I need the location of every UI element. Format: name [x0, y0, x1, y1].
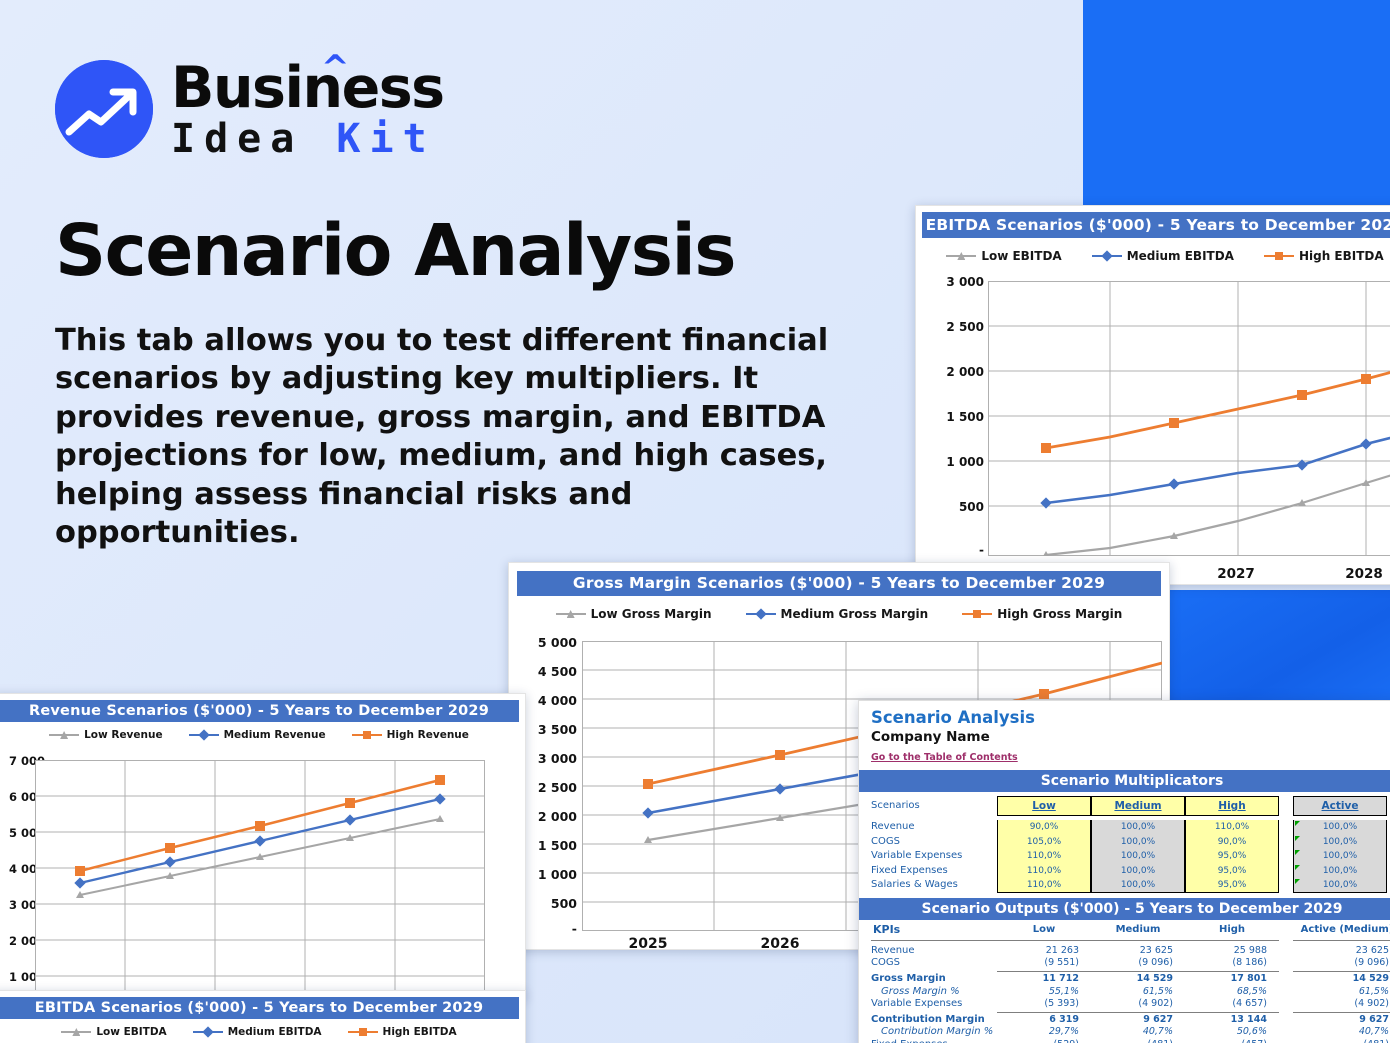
brand-line-2-accent: Kit — [336, 116, 435, 162]
multiplicators-column-low: Low 90,0% 105,0% 110,0% 110,0% 110,0% — [997, 796, 1091, 893]
brand-logo: Business ^ Idea Kit — [55, 58, 444, 159]
legend-item-low: Low Revenue — [49, 729, 163, 741]
ytick-ebitda-top-5: 2 500 — [926, 320, 984, 334]
multiplicators-row-label-cogs: COGS — [871, 835, 997, 850]
chart-title-revenue: Revenue Scenarios ($'000) - 5 Years to D… — [0, 700, 519, 722]
outputs-low-gross-margin-pct: 55,1% — [997, 986, 1091, 997]
table-row: Gross Margin 11 712 14 529 17 801 14 529 — [859, 972, 1390, 985]
outputs-active-contribution-margin-pct: 40,7% — [1293, 1026, 1390, 1037]
legend-marker-medium-icon — [193, 1031, 223, 1033]
outputs-high-gross-margin-pct: 68,5% — [1185, 986, 1279, 997]
scenario-outputs-header: Scenario Outputs ($'000) - 5 Years to De… — [859, 898, 1390, 920]
multiplicators-row-labels: Scenarios Revenue COGS Variable Expenses… — [859, 796, 997, 893]
page-description: This tab allows you to test different fi… — [55, 322, 855, 553]
outputs-high-revenue: 25 988 — [1185, 945, 1279, 956]
outputs-label-fixed-expenses: Fixed Expenses — [859, 1039, 997, 1043]
multiplicator-medium-revenue[interactable]: 100,0% — [1091, 820, 1185, 835]
ytick-ebitda-top-1: 500 — [926, 500, 984, 514]
outputs-header-rule — [859, 938, 1390, 941]
slide-canvas: Business ^ Idea Kit Scenario Analysis Th… — [0, 0, 1390, 1043]
ytick-ebitda-top-4: 2 000 — [926, 365, 984, 379]
table-row: Contribution Margin % 29,7% 40,7% 50,6% … — [859, 1026, 1390, 1039]
outputs-active-gross-margin: 14 529 — [1293, 973, 1390, 984]
ytick-ebitda-top-3: 1 500 — [926, 410, 984, 424]
chart-title-gross-margin: Gross Margin Scenarios ($'000) - 5 Years… — [517, 571, 1161, 596]
scenario-panel-company: Company Name — [871, 729, 1390, 745]
outputs-high-contribution-margin: 13 144 — [1185, 1014, 1279, 1025]
scenario-panel-title: Scenario Analysis — [871, 709, 1390, 728]
outputs-medium-contribution-margin: 9 627 — [1091, 1014, 1185, 1025]
legend-label-low: Low Gross Margin — [591, 607, 712, 621]
legend-item-medium: Medium EBITDA — [193, 1026, 322, 1038]
outputs-low-cogs: (9 551) — [997, 957, 1091, 968]
outputs-label-gross-margin-pct: Gross Margin % — [859, 986, 997, 997]
multiplicator-low-fixexp[interactable]: 110,0% — [997, 864, 1091, 879]
outputs-medium-gross-margin-pct: 61,5% — [1091, 986, 1185, 997]
legend-label-low: Low EBITDA — [981, 249, 1061, 263]
outputs-medium-cogs: (9 096) — [1091, 957, 1185, 968]
legend-marker-high-icon — [352, 734, 382, 736]
outputs-medium-fixed-expenses: (481) — [1091, 1039, 1185, 1043]
multiplicator-active-salaries: 100,0% — [1293, 878, 1387, 893]
outputs-low-gross-margin: 11 712 — [997, 973, 1091, 984]
legend-marker-high-icon — [962, 613, 992, 615]
multiplicator-active-cogs: 100,0% — [1293, 835, 1387, 850]
outputs-low-contribution-margin-pct: 29,7% — [997, 1026, 1091, 1037]
chart-legend-gross-margin: Low Gross Margin Medium Gross Margin Hig… — [509, 607, 1169, 621]
table-row: COGS (9 551) (9 096) (8 186) (9 096) — [859, 957, 1390, 970]
brand-circumflex-accent: ^ — [321, 51, 348, 85]
multiplicator-high-fixexp[interactable]: 95,0% — [1185, 864, 1279, 879]
outputs-active-cogs: (9 096) — [1293, 957, 1390, 968]
multiplicators-column-high: High 110,0% 90,0% 95,0% 95,0% 95,0% — [1185, 796, 1279, 893]
xtick-gm-2025: 2025 — [618, 936, 678, 952]
legend-label-high: High Revenue — [387, 729, 469, 741]
decorative-blue-block-middle-right — [1170, 590, 1390, 702]
outputs-medium-variable-expenses: (4 902) — [1091, 998, 1185, 1009]
scenario-outputs-table: KPIs Low Medium High Active (Medium) Rev… — [859, 920, 1390, 1043]
outputs-label-gross-margin: Gross Margin — [859, 973, 997, 984]
scenario-analysis-panel: Scenario Analysis Company Name Go to the… — [858, 700, 1390, 1043]
legend-item-low: Low EBITDA — [946, 249, 1061, 263]
multiplicators-row-label-varexp: Variable Expenses — [871, 849, 997, 864]
page-title: Scenario Analysis — [55, 209, 735, 292]
multiplicator-low-salaries[interactable]: 110,0% — [997, 878, 1091, 893]
outputs-high-fixed-expenses: (457) — [1185, 1039, 1279, 1043]
ytick-gm-9: 4 500 — [515, 664, 577, 679]
brand-line-1: Business — [171, 55, 444, 121]
legend-marker-high-icon — [348, 1031, 378, 1033]
multiplicators-column-medium: Medium 100,0% 100,0% 100,0% 100,0% 100,0… — [1091, 796, 1185, 893]
legend-label-medium: Medium EBITDA — [228, 1026, 322, 1038]
multiplicator-active-revenue: 100,0% — [1293, 820, 1387, 835]
outputs-active-contribution-margin: 9 627 — [1293, 1014, 1390, 1025]
legend-item-low: Low Gross Margin — [556, 607, 712, 621]
legend-marker-medium-icon — [189, 734, 219, 736]
outputs-rule-after-varexp — [859, 1010, 1390, 1013]
legend-marker-low-icon — [61, 1031, 91, 1033]
multiplicators-row-label-revenue: Revenue — [871, 820, 997, 835]
multiplicator-low-revenue[interactable]: 90,0% — [997, 820, 1091, 835]
legend-label-low: Low Revenue — [84, 729, 163, 741]
outputs-high-cogs: (8 186) — [1185, 957, 1279, 968]
outputs-active-gross-margin-pct: 61,5% — [1293, 986, 1390, 997]
outputs-active-fixed-expenses: (481) — [1293, 1039, 1390, 1043]
chart-title-ebitda-bottom: EBITDA Scenarios ($'000) - 5 Years to De… — [0, 997, 519, 1019]
legend-item-high: High EBITDA — [348, 1026, 457, 1038]
table-row: Revenue 21 263 23 625 25 988 23 625 — [859, 944, 1390, 957]
outputs-low-fixed-expenses: (529) — [997, 1039, 1091, 1043]
growth-arrow-icon — [55, 60, 153, 158]
multiplicators-col-header-high: High — [1185, 796, 1279, 816]
outputs-header-row: KPIs Low Medium High Active (Medium) — [859, 922, 1390, 938]
multiplicators-row-label-fixexp: Fixed Expenses — [871, 864, 997, 879]
ytick-ebitda-top-6: 3 000 — [926, 275, 984, 289]
scenario-multiplicators-header: Scenario Multiplicators — [859, 770, 1390, 792]
multiplicators-col-header-active: Active (Medium) — [1293, 796, 1387, 816]
multiplicators-col-header-low: Low — [997, 796, 1091, 816]
chart-card-revenue: Revenue Scenarios ($'000) - 5 Years to D… — [0, 693, 526, 998]
legend-label-high: High EBITDA — [383, 1026, 457, 1038]
legend-marker-low-icon — [49, 734, 79, 736]
legend-label-high: High EBITDA — [1299, 249, 1384, 263]
legend-marker-medium-icon — [746, 613, 776, 615]
multiplicator-high-varexp[interactable]: 95,0% — [1185, 849, 1279, 864]
legend-label-low: Low EBITDA — [96, 1026, 166, 1038]
table-row: Contribution Margin 6 319 9 627 13 144 9… — [859, 1013, 1390, 1026]
plot-area-ebitda-top — [988, 281, 1390, 556]
multiplicators-col-header-medium: Medium — [1091, 796, 1185, 816]
outputs-label-revenue: Revenue — [859, 945, 997, 956]
outputs-label-cogs: COGS — [859, 957, 997, 968]
table-row: Variable Expenses (5 393) (4 902) (4 657… — [859, 997, 1390, 1010]
multiplicator-active-varexp: 100,0% — [1293, 849, 1387, 864]
outputs-header-high: High — [1185, 924, 1279, 935]
multiplicators-label-scenarios: Scenarios — [871, 796, 997, 816]
outputs-active-revenue: 23 625 — [1293, 945, 1390, 956]
legend-item-medium: Medium Revenue — [189, 729, 326, 741]
multiplicator-high-cogs[interactable]: 90,0% — [1185, 835, 1279, 850]
legend-marker-high-icon — [1264, 255, 1294, 257]
outputs-label-contribution-margin: Contribution Margin — [859, 1014, 997, 1025]
outputs-header-medium: Medium — [1091, 924, 1185, 935]
chart-card-ebitda-bottom: EBITDA Scenarios ($'000) - 5 Years to De… — [0, 990, 526, 1043]
legend-label-medium: Medium EBITDA — [1127, 249, 1234, 263]
legend-label-high: High Gross Margin — [997, 607, 1122, 621]
ytick-gm-10: 5 000 — [515, 635, 577, 650]
multiplicators-row-label-salaries: Salaries & Wages — [871, 878, 997, 893]
outputs-rule-after-cogs — [859, 969, 1390, 972]
legend-marker-low-icon — [556, 613, 586, 615]
legend-label-medium: Medium Gross Margin — [781, 607, 929, 621]
decorative-blue-block-top-right — [1083, 0, 1390, 206]
multiplicator-high-revenue[interactable]: 110,0% — [1185, 820, 1279, 835]
xtick-gm-2026: 2026 — [750, 936, 810, 952]
outputs-high-variable-expenses: (4 657) — [1185, 998, 1279, 1009]
chart-title-ebitda-top: EBITDA Scenarios ($'000) - 5 Years to De… — [922, 212, 1390, 238]
legend-marker-low-icon — [946, 255, 976, 257]
multiplicator-medium-salaries[interactable]: 100,0% — [1091, 878, 1185, 893]
multiplicator-low-varexp[interactable]: 110,0% — [997, 849, 1091, 864]
xtick-ebitda-top-2027: 2027 — [1206, 566, 1266, 582]
outputs-medium-revenue: 23 625 — [1091, 945, 1185, 956]
multiplicator-medium-varexp[interactable]: 100,0% — [1091, 849, 1185, 864]
outputs-low-revenue: 21 263 — [997, 945, 1091, 956]
outputs-medium-contribution-margin-pct: 40,7% — [1091, 1026, 1185, 1037]
outputs-header-kpis: KPIs — [859, 923, 997, 936]
xtick-ebitda-top-2028: 2028 — [1334, 566, 1390, 582]
table-row: Gross Margin % 55,1% 61,5% 68,5% 61,5% — [859, 985, 1390, 998]
scenario-multiplicators-table: Scenarios Revenue COGS Variable Expenses… — [859, 792, 1390, 893]
multiplicators-column-spacer — [1279, 796, 1293, 893]
chart-legend-revenue: Low Revenue Medium Revenue High Revenue — [0, 729, 525, 741]
outputs-high-contribution-margin-pct: 50,6% — [1185, 1026, 1279, 1037]
multiplicator-medium-cogs[interactable]: 100,0% — [1091, 835, 1185, 850]
outputs-medium-gross-margin: 14 529 — [1091, 973, 1185, 984]
plot-area-revenue — [35, 760, 485, 1007]
table-row: Fixed Expenses (529) (481) (457) (481) — [859, 1038, 1390, 1043]
chart-legend-ebitda-top: Low EBITDA Medium EBITDA High EBITDA — [916, 249, 1390, 263]
multiplicator-active-fixexp: 100,0% — [1293, 864, 1387, 879]
outputs-header-low: Low — [997, 924, 1091, 935]
legend-item-medium: Medium EBITDA — [1092, 249, 1234, 263]
ytick-ebitda-top-2: 1 000 — [926, 455, 984, 469]
outputs-label-variable-expenses: Variable Expenses — [859, 998, 997, 1009]
legend-item-low: Low EBITDA — [61, 1026, 166, 1038]
outputs-low-variable-expenses: (5 393) — [997, 998, 1091, 1009]
chart-legend-ebitda-bottom: Low EBITDA Medium EBITDA High EBITDA — [0, 1026, 525, 1038]
legend-item-high: High Revenue — [352, 729, 469, 741]
outputs-high-gross-margin: 17 801 — [1185, 973, 1279, 984]
brand-line-2-dark: Idea — [171, 116, 336, 162]
legend-label-medium: Medium Revenue — [224, 729, 326, 741]
multiplicator-medium-fixexp[interactable]: 100,0% — [1091, 864, 1185, 879]
multiplicators-column-active: Active (Medium) 100,0% 100,0% 100,0% 100… — [1293, 796, 1387, 893]
chart-card-ebitda-top: EBITDA Scenarios ($'000) - 5 Years to De… — [915, 205, 1390, 585]
legend-item-high: High EBITDA — [1264, 249, 1384, 263]
legend-item-high: High Gross Margin — [962, 607, 1122, 621]
table-of-contents-link[interactable]: Go to the Table of Contents — [871, 752, 1018, 763]
outputs-low-contribution-margin: 6 319 — [997, 1014, 1091, 1025]
ytick-ebitda-top-0: - — [926, 543, 984, 557]
outputs-active-variable-expenses: (4 902) — [1293, 998, 1390, 1009]
multiplicator-high-salaries[interactable]: 95,0% — [1185, 878, 1279, 893]
multiplicator-low-cogs[interactable]: 105,0% — [997, 835, 1091, 850]
outputs-label-contribution-margin-pct: Contribution Margin % — [859, 1026, 997, 1037]
outputs-header-active: Active (Medium) — [1293, 924, 1390, 935]
legend-marker-medium-icon — [1092, 255, 1122, 257]
legend-item-medium: Medium Gross Margin — [746, 607, 929, 621]
